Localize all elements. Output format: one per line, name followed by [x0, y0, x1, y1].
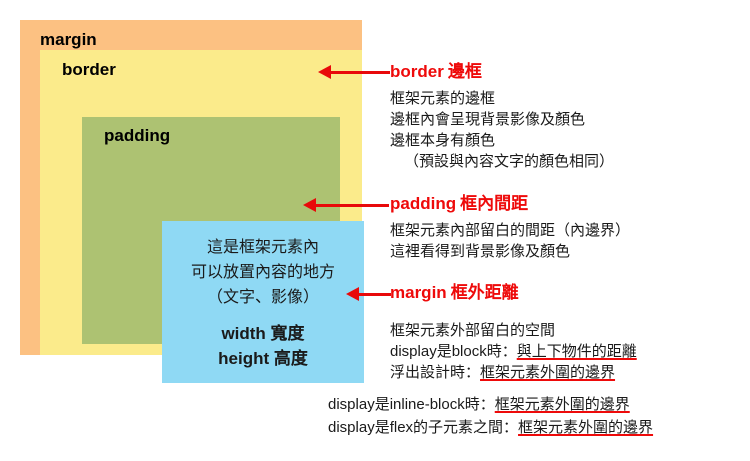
- padding-layer-label: padding: [104, 127, 170, 144]
- annotation-column: border邊框 框架元素的邊框 邊框內會呈現背景影像及顏色 邊框本身有顏色 （…: [390, 0, 750, 461]
- annotation-margin-title-cjk: 框外距離: [451, 283, 519, 302]
- annotation-border-line-2: 邊框內會呈現背景影像及顏色: [390, 109, 614, 130]
- annotation-padding-title-en: padding: [390, 194, 456, 213]
- annotation-margin-block-prefix: display是block時：: [390, 343, 517, 360]
- margin-layer-label: margin: [40, 31, 97, 48]
- content-text-line-3: （文字、影像）: [207, 285, 319, 310]
- margin-layer: margin border padding 這是框架元素內 可以放置內容的地方 …: [20, 20, 362, 355]
- box-model-diagram: margin border padding 這是框架元素內 可以放置內容的地方 …: [20, 20, 362, 355]
- annotation-border-body: 框架元素的邊框 邊框內會呈現背景影像及顏色 邊框本身有顏色 （預設與內容文字的顏…: [390, 88, 614, 172]
- annotation-border-line-3: 邊框本身有顏色: [390, 130, 614, 151]
- annotation-extra-inline-block-prefix: display是inline-block時：: [328, 396, 495, 413]
- annotation-extra-flex-underlined: 框架元素外圍的邊界: [518, 419, 653, 436]
- annotation-extra-inline-block: display是inline-block時：框架元素外圍的邊界: [328, 393, 653, 416]
- content-width-label: width 寬度: [221, 321, 304, 346]
- annotation-margin-body: 框架元素外部留白的空間 display是block時：與上下物件的距離 浮出設計…: [390, 320, 637, 383]
- content-text-line-1: 這是框架元素內: [207, 235, 319, 260]
- annotation-margin-title: margin框外距離: [390, 283, 637, 303]
- annotation-padding-line-1: 框架元素內部留白的間距（內邊界）: [390, 220, 630, 241]
- annotation-margin-float-prefix: 浮出設計時：: [390, 364, 480, 381]
- content-layer: 這是框架元素內 可以放置內容的地方 （文字、影像） width 寬度 heigh…: [162, 221, 364, 383]
- annotation-margin-block-underlined: 與上下物件的距離: [517, 343, 637, 360]
- annotation-border-line-4: （預設與內容文字的顏色相同）: [390, 151, 614, 172]
- annotation-margin: margin框外距離 框架元素外部留白的空間 display是block時：與上…: [390, 283, 637, 383]
- content-text-line-2: 可以放置內容的地方: [191, 260, 335, 285]
- padding-layer: padding 這是框架元素內 可以放置內容的地方 （文字、影像） width …: [82, 117, 340, 344]
- annotation-padding: padding框內間距 框架元素內部留白的間距（內邊界） 這裡看得到背景影像及顏…: [390, 194, 630, 262]
- annotation-extra-flex: display是flex的子元素之間：框架元素外圍的邊界: [328, 416, 653, 439]
- annotation-extra-flex-prefix: display是flex的子元素之間：: [328, 419, 518, 436]
- annotation-margin-line-2: display是block時：與上下物件的距離: [390, 341, 637, 362]
- annotation-margin-line-3: 浮出設計時：框架元素外圍的邊界: [390, 362, 637, 383]
- annotation-padding-line-2: 這裡看得到背景影像及顏色: [390, 241, 630, 262]
- annotation-padding-body: 框架元素內部留白的間距（內邊界） 這裡看得到背景影像及顏色: [390, 220, 630, 262]
- annotation-margin-line-1: 框架元素外部留白的空間: [390, 320, 637, 341]
- annotation-extra: display是inline-block時：框架元素外圍的邊界 display是…: [328, 393, 653, 439]
- annotation-margin-float-underlined: 框架元素外圍的邊界: [480, 364, 615, 381]
- annotation-border-line-1: 框架元素的邊框: [390, 88, 614, 109]
- content-height-label: height 高度: [218, 346, 308, 371]
- annotation-extra-inline-block-underlined: 框架元素外圍的邊界: [495, 396, 630, 413]
- annotation-padding-title: padding框內間距: [390, 194, 630, 214]
- annotation-padding-title-cjk: 框內間距: [460, 194, 528, 213]
- annotation-margin-title-en: margin: [390, 283, 447, 302]
- annotation-border: border邊框 框架元素的邊框 邊框內會呈現背景影像及顏色 邊框本身有顏色 （…: [390, 62, 614, 172]
- annotation-border-title-en: border: [390, 62, 444, 81]
- border-layer-label: border: [62, 61, 116, 78]
- border-layer: border padding 這是框架元素內 可以放置內容的地方 （文字、影像）…: [40, 50, 362, 355]
- annotation-border-title: border邊框: [390, 62, 614, 82]
- annotation-border-title-cjk: 邊框: [448, 62, 482, 81]
